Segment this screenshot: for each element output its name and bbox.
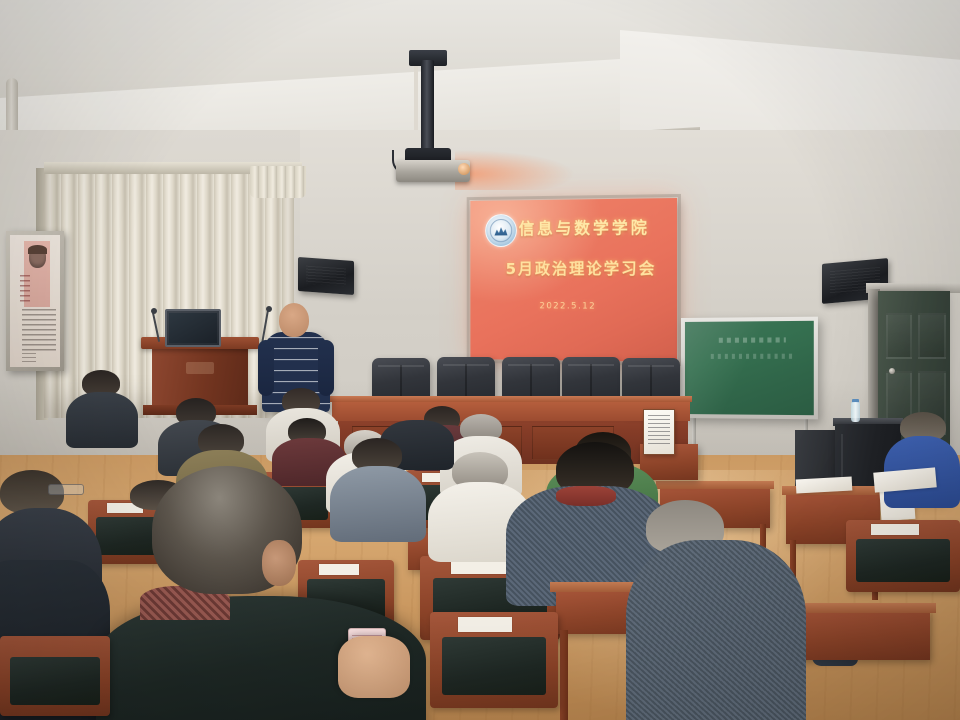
seat-number-label xyxy=(319,564,359,576)
monitor-screen xyxy=(169,313,217,343)
head-table-edge xyxy=(330,396,692,402)
curtain-folds xyxy=(250,166,306,198)
notice-text-lines xyxy=(648,415,670,445)
desk-leg xyxy=(560,630,568,720)
eyeglasses-icon xyxy=(48,484,84,495)
head-table xyxy=(332,399,690,421)
chalkboard-legs xyxy=(690,416,812,444)
attendee-body xyxy=(330,466,426,542)
podium-emblem xyxy=(186,362,214,374)
projector-lens-icon xyxy=(458,163,470,175)
portrait-hair xyxy=(28,245,47,254)
microphone-head-icon xyxy=(151,308,157,314)
attendee-body xyxy=(626,540,806,720)
speaker-grille xyxy=(306,266,346,287)
water-bottle[interactable] xyxy=(851,402,860,422)
poster-signature xyxy=(22,353,36,365)
audience-chair[interactable] xyxy=(0,636,110,716)
seat-number-label xyxy=(451,560,510,573)
presenter-arm xyxy=(258,340,274,396)
posted-notice-sheet xyxy=(643,409,675,455)
microphone-head-icon xyxy=(266,306,272,312)
standing-speaker xyxy=(279,303,309,337)
green-chalkboard[interactable] xyxy=(681,317,818,420)
seat-number-label xyxy=(871,524,919,536)
projection-screen: 信息与数学学院 5月政治理论学习会 2022.5.12 xyxy=(470,198,677,362)
wall-speaker-left xyxy=(298,257,354,295)
attendee-body xyxy=(66,392,138,448)
framed-calligraphy-portrait xyxy=(6,231,64,371)
attendee-scarf xyxy=(556,486,616,506)
seat-number-label xyxy=(458,617,512,632)
projector-light-beam xyxy=(455,150,575,190)
screen-border xyxy=(467,194,681,366)
audience-desk-top xyxy=(656,481,774,489)
audience-chair[interactable] xyxy=(846,520,960,592)
poster-body-text xyxy=(22,309,56,351)
poster-text-column xyxy=(20,275,30,305)
board-sheen xyxy=(685,321,814,415)
desk-paper xyxy=(796,477,853,494)
meeting-room-photo: 信息与数学学院 5月政治理论学习会 2022.5.12 xyxy=(0,0,960,720)
podium-monitor[interactable] xyxy=(165,309,221,347)
attendee-hand xyxy=(338,636,410,698)
door-knob-icon[interactable] xyxy=(889,368,895,374)
projector-pole xyxy=(421,60,434,160)
attendee-ear xyxy=(262,540,296,586)
presenter-arm xyxy=(318,340,334,396)
audience-chair[interactable] xyxy=(430,612,558,708)
